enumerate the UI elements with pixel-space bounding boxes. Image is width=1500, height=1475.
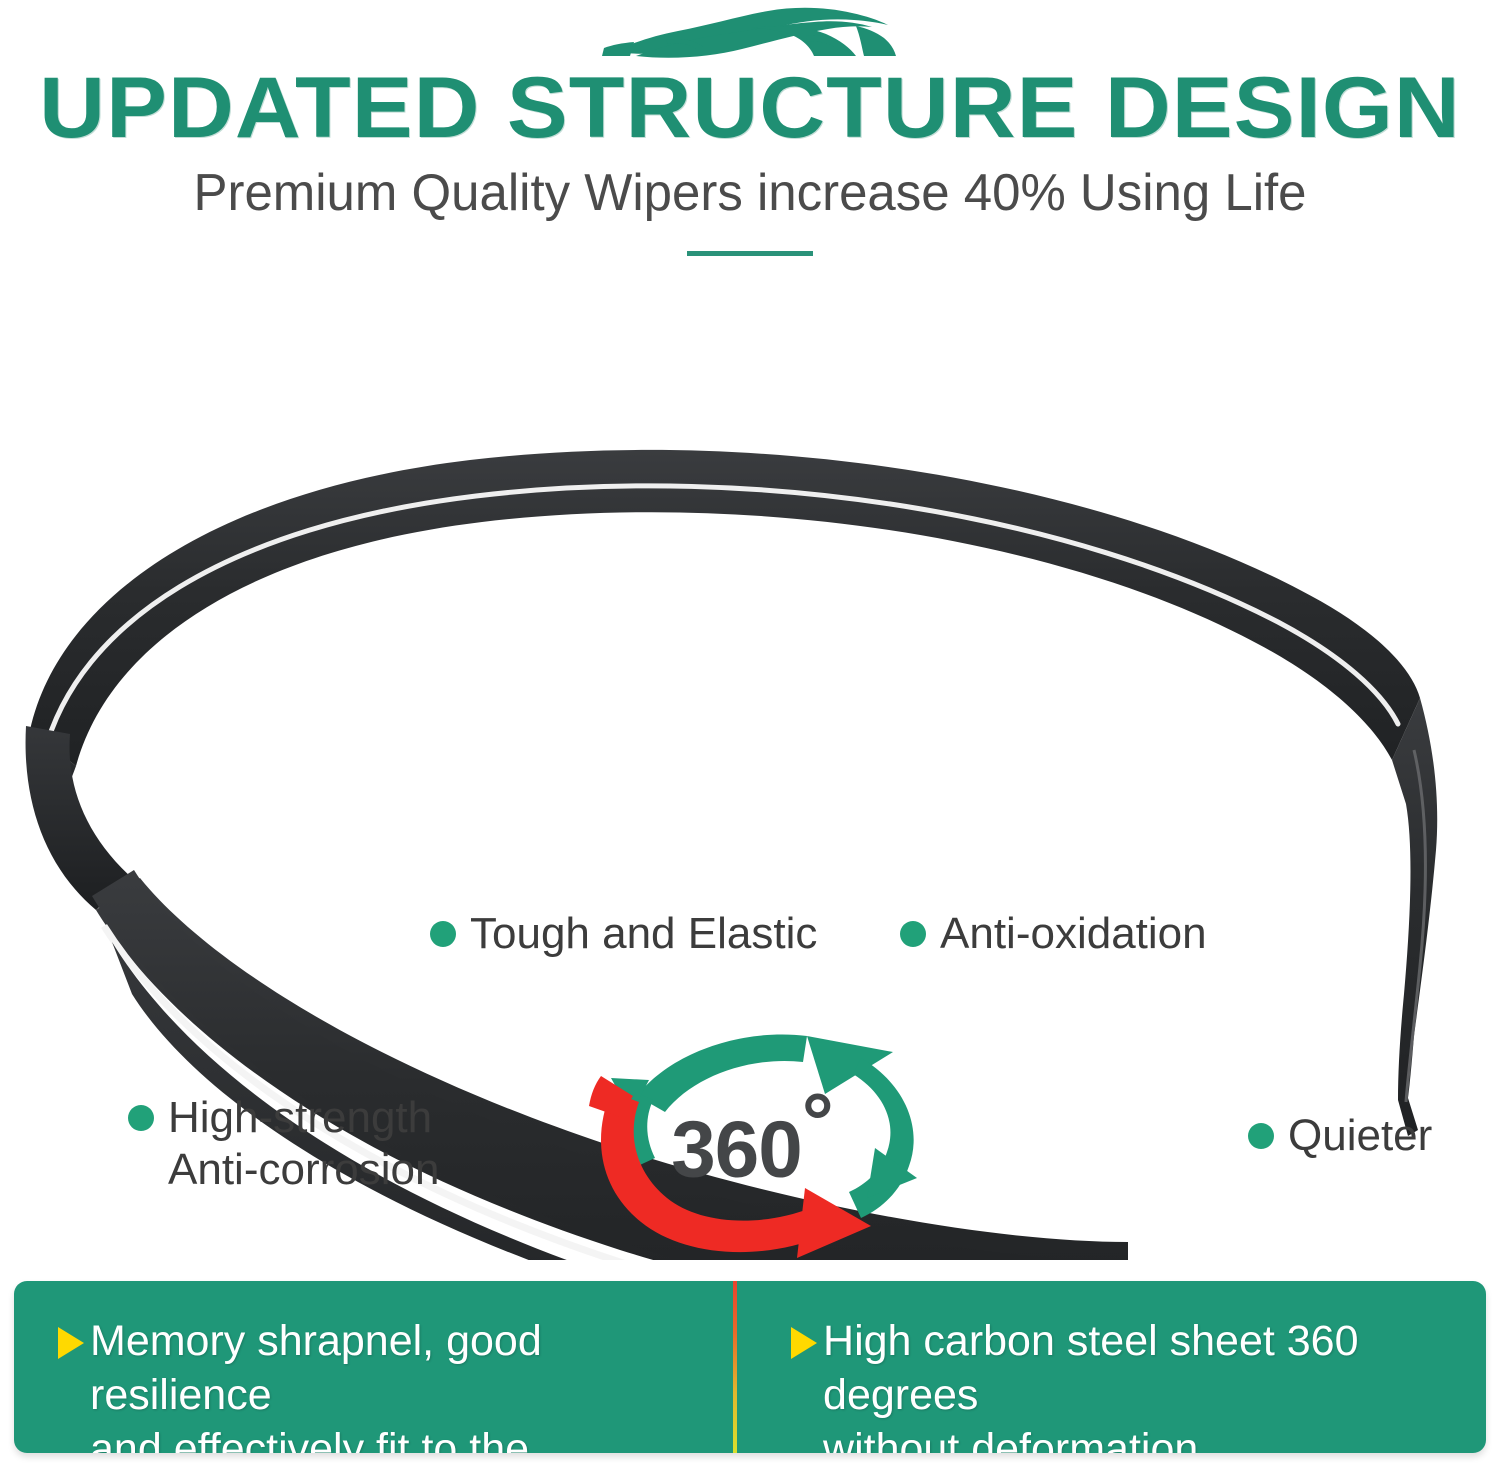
feature-label: Tough and Elastic — [470, 908, 817, 960]
triangle-marker-icon — [58, 1327, 84, 1359]
feature-quieter: Quieter — [1248, 1110, 1432, 1162]
car-silhouette-logo-icon — [600, 4, 900, 62]
page-subtitle: Premium Quality Wipers increase 40% Usin… — [15, 166, 1485, 221]
triangle-marker-icon — [791, 1327, 817, 1359]
feature-label: Quieter — [1288, 1110, 1432, 1162]
footer-text-line2: without deformation — [823, 1425, 1198, 1454]
blade-notches — [300, 836, 353, 937]
feature-anti-oxidation: Anti-oxidation — [900, 908, 1207, 960]
bullet-dot-icon — [128, 1105, 154, 1131]
360-rotation-arrows-icon — [575, 1022, 965, 1262]
bullet-dot-icon — [1248, 1123, 1274, 1149]
footer-text-line1: High carbon steel sheet 360 degrees — [823, 1317, 1358, 1419]
product-hero: Tough and Elastic Anti-oxidation High-st… — [0, 330, 1500, 1260]
feature-high-strength-anti-corrosion: High-strength Anti-corrosion — [128, 1092, 439, 1196]
feature-label: Anti-oxidation — [940, 908, 1207, 960]
title-divider-rule — [687, 251, 813, 256]
feature-label-line1: High-strength — [168, 1093, 432, 1142]
footer-panel-memory-shrapnel: Memory shrapnel, good resilience and eff… — [14, 1281, 733, 1453]
footer-feature-banner: Memory shrapnel, good resilience and eff… — [14, 1281, 1486, 1453]
bullet-dot-icon — [900, 921, 926, 947]
feature-label-line2: Anti-corrosion — [168, 1145, 439, 1194]
360-degree-badge: 360° — [575, 1022, 965, 1262]
footer-text-line2: and effectively fit to the windshield — [90, 1425, 529, 1454]
footer-panel-high-carbon-steel: High carbon steel sheet 360 degrees with… — [737, 1281, 1486, 1453]
feature-tough-and-elastic: Tough and Elastic — [430, 908, 817, 960]
blade-right-tail — [1392, 698, 1437, 1136]
header: UPDATED STRUCTURE DESIGN Premium Quality… — [0, 0, 1500, 256]
page-title: UPDATED STRUCTURE DESIGN — [0, 66, 1500, 150]
bullet-dot-icon — [430, 921, 456, 947]
footer-text-line1: Memory shrapnel, good resilience — [90, 1317, 542, 1419]
